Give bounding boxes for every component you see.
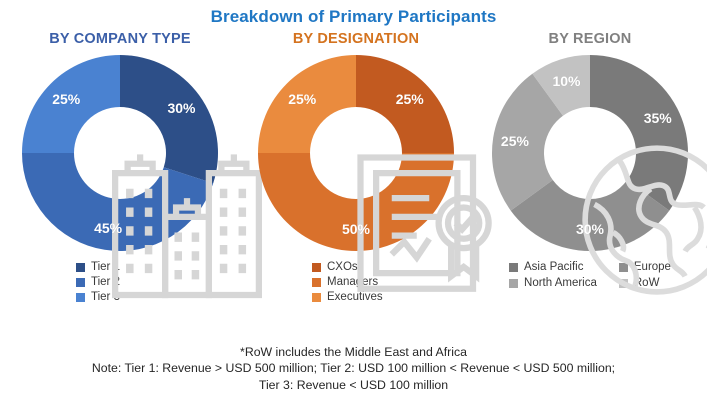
slice-value-label: 35% [644,110,672,126]
legend-label: RoW [634,277,660,289]
slice-value-label: 25% [396,91,424,107]
legend-swatch [312,263,321,272]
footnote-note: Note: Tier 1: Revenue > USD 500 million;… [0,360,707,377]
slice-value-label: 30% [167,100,195,116]
legend-swatch [509,279,518,288]
donut-slice[interactable] [590,55,688,211]
legend-label: Tier 3 [91,291,120,303]
legend-label: Asia Pacific [524,261,583,273]
panel-heading-company-type: BY COMPANY TYPE [2,30,238,48]
footnotes: *RoW includes the Middle East and Africa… [0,344,707,394]
panel-company-type: BY COMPANY TYPE [2,30,238,330]
legend-region: Asia Pacific Europe North America RoW [472,261,707,289]
legend-item[interactable]: Managers [312,276,400,288]
donut-slice[interactable] [120,55,218,183]
legend-swatch [312,293,321,302]
legend-item[interactable]: North America [509,277,597,289]
legend-item[interactable]: Tier 2 [76,276,164,288]
slice-value-label: 50% [342,221,370,237]
legend-item[interactable]: Executives [312,291,400,303]
donut-chart-company-type: 30%45%25% [20,53,220,253]
panel-region: BY REGION 35%30%25%10% [472,30,707,330]
donut-chart-designation: 25%50%25% [256,53,456,253]
legend-label: Executives [327,291,383,303]
legend-swatch [76,263,85,272]
slice-value-label: 25% [501,133,529,149]
panel-heading-region: BY REGION [472,30,707,48]
footnote-tier3: Tier 3: Revenue < USD 100 million [0,377,707,394]
legend-swatch [509,263,518,272]
legend-label: Tier 1 [91,261,120,273]
legend-swatch [76,278,85,287]
slice-value-label: 30% [576,221,604,237]
legend-swatch [312,278,321,287]
legend-item[interactable]: CXOs [312,261,400,273]
legend-item[interactable]: Asia Pacific [509,261,583,273]
legend-swatch [76,293,85,302]
page-title: Breakdown of Primary Participants [0,7,707,27]
legend-designation: CXOs Managers Executives [238,261,474,303]
panel-heading-designation: BY DESIGNATION [238,30,474,48]
slice-value-label: 25% [288,91,316,107]
slice-value-label: 45% [94,220,122,236]
legend-label: CXOs [327,261,358,273]
legend-item[interactable]: RoW [619,277,660,289]
legend-item[interactable]: Tier 1 [76,261,164,273]
donut-chart-region: 35%30%25%10% [490,53,690,253]
legend-swatch [619,279,628,288]
slice-value-label: 10% [552,73,580,89]
legend-swatch [619,263,628,272]
legend-label: North America [524,277,597,289]
legend-item[interactable]: Tier 3 [76,291,164,303]
legend-label: Managers [327,276,378,288]
legend-company-type: Tier 1 Tier 2 Tier 3 [2,261,238,303]
legend-label: Europe [634,261,671,273]
panel-designation: BY DESIGNATION [238,30,474,330]
footnote-row: *RoW includes the Middle East and Africa [0,344,707,361]
slice-value-label: 25% [52,91,80,107]
legend-label: Tier 2 [91,276,120,288]
legend-item[interactable]: Europe [619,261,671,273]
infographic-root: Breakdown of Primary Participants BY COM… [0,0,707,401]
